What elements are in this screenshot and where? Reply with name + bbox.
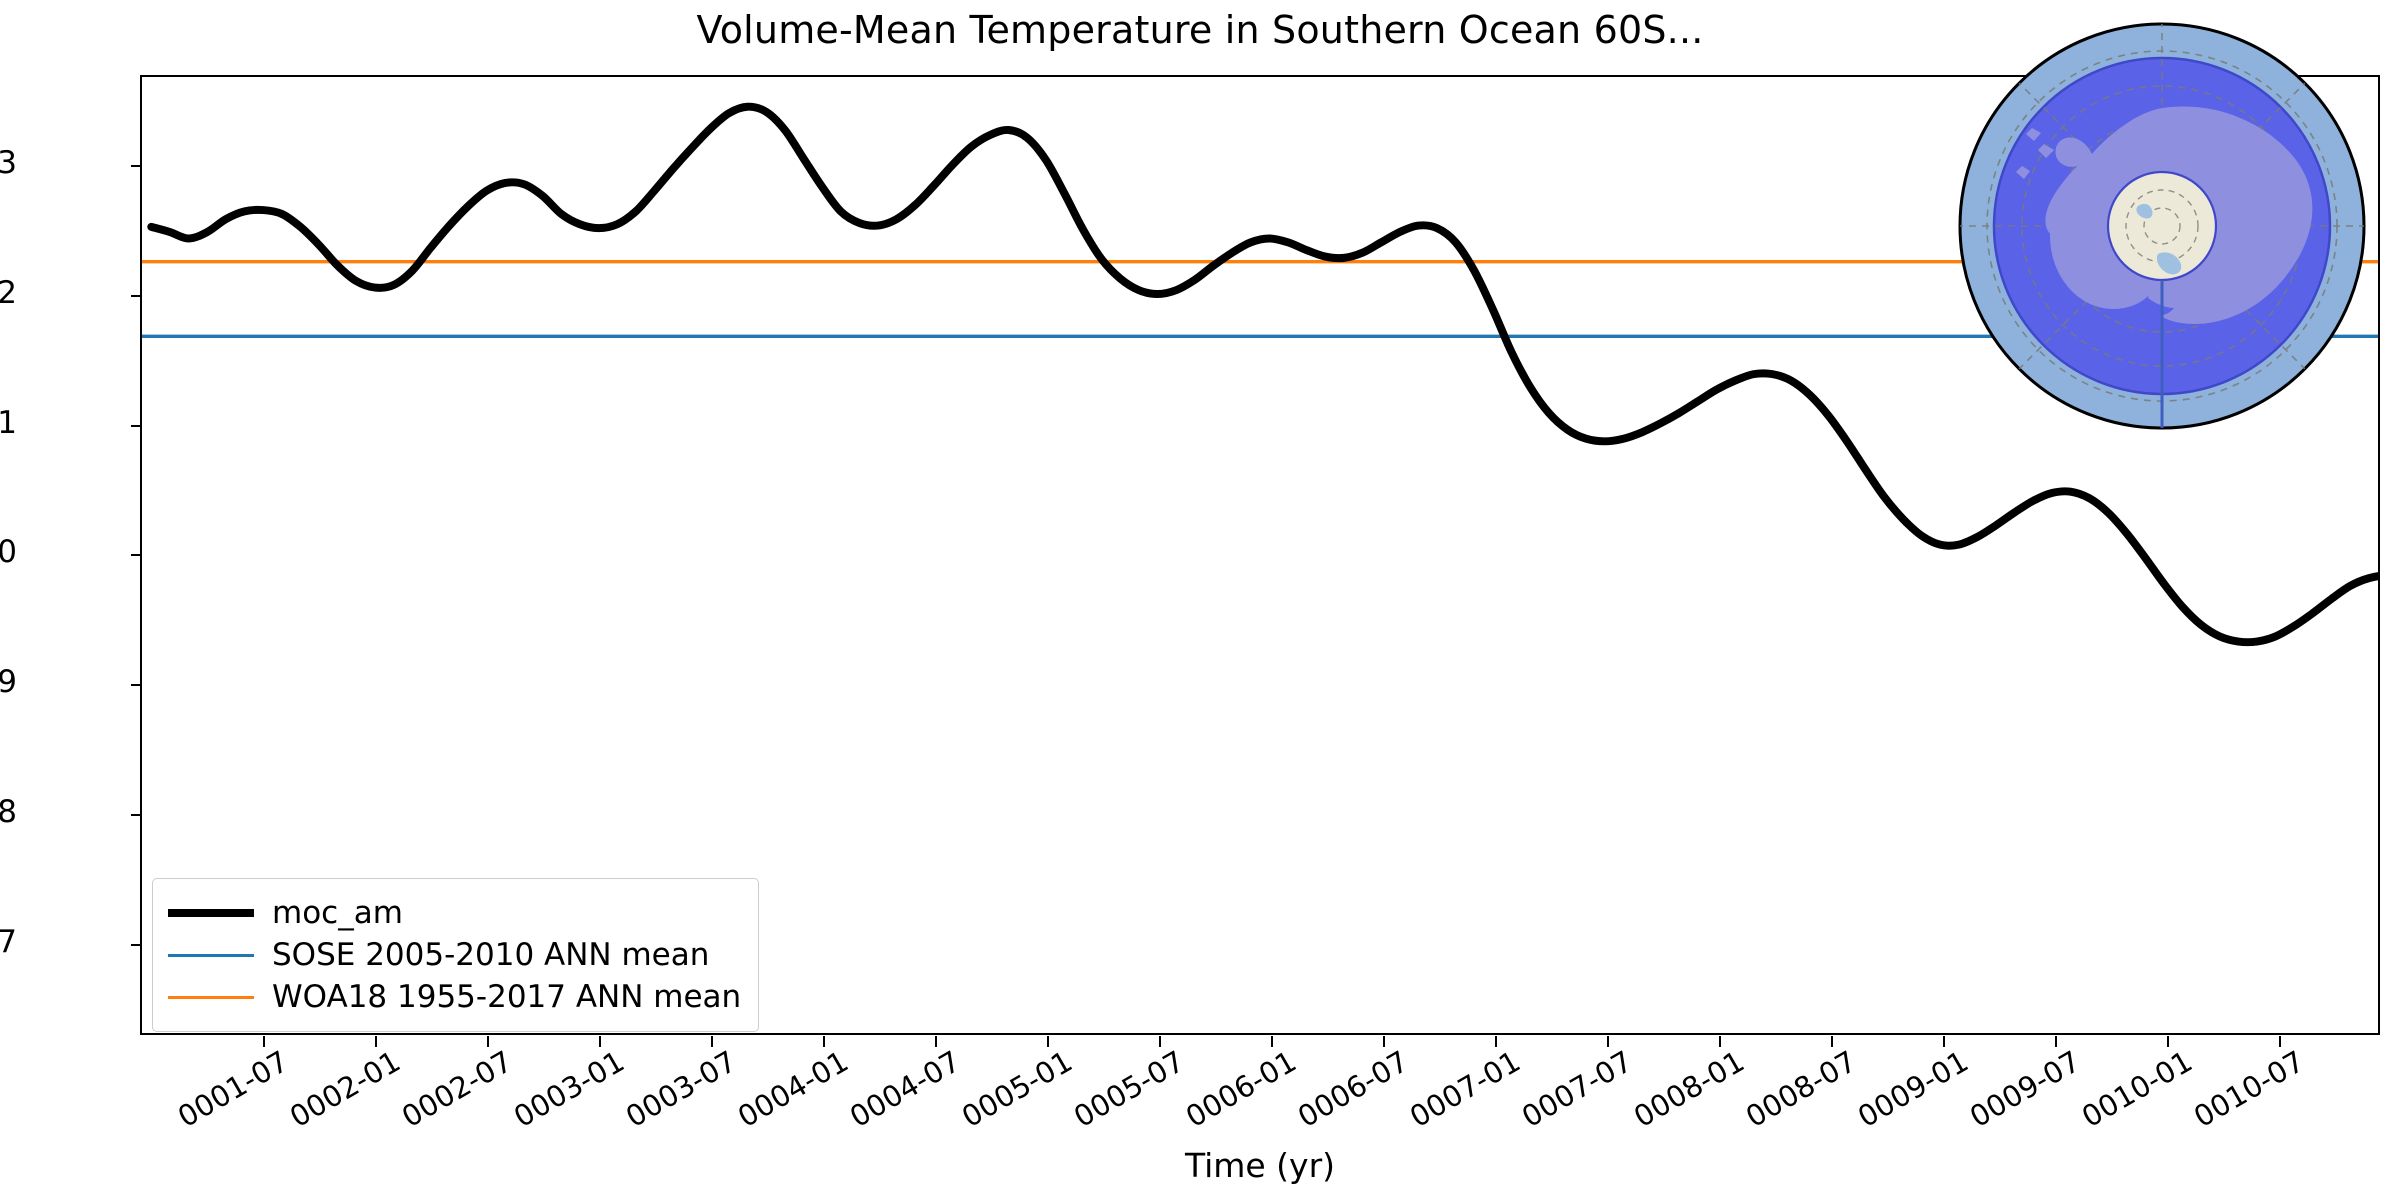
x-tick-label: 0004-01 [732,1044,854,1134]
y-tick-label: 1.1 [0,405,17,441]
y-tick-label: 0.9 [0,664,17,700]
x-tick-label: 0009-01 [1852,1044,1974,1134]
x-tick-label: 0010-07 [2188,1044,2310,1134]
x-tick-label: 0008-07 [1740,1044,1862,1134]
x-tick-mark [1271,1036,1273,1047]
x-tick-mark [2279,1036,2281,1047]
legend-item-woa18[interactable]: WOA18 1955-2017 ANN mean [168,976,741,1018]
antarctica-inset-map [1952,16,2372,436]
legend-swatch-moc-am [168,909,254,917]
y-tick-mark [131,295,142,297]
y-tick-mark [131,814,142,816]
x-tick-label: 0002-07 [396,1044,518,1134]
x-tick-mark [1047,1036,1049,1047]
x-tick-label: 0003-07 [620,1044,742,1134]
y-tick-label: 0.8 [0,794,17,830]
x-tick-label: 0009-07 [1964,1044,2086,1134]
x-tick-mark [823,1036,825,1047]
chart-legend[interactable]: moc_am SOSE 2005-2010 ANN mean WOA18 195… [152,878,759,1032]
legend-swatch-woa18 [168,996,254,999]
x-tick-mark [1159,1036,1161,1047]
x-tick-mark [935,1036,937,1047]
x-tick-mark [1495,1036,1497,1047]
x-tick-label: 0002-01 [284,1044,406,1134]
legend-swatch-sose [168,954,254,957]
x-tick-mark [375,1036,377,1047]
x-tick-mark [487,1036,489,1047]
y-tick-label: 1.3 [0,145,17,181]
x-tick-mark [263,1036,265,1047]
x-tick-mark [2055,1036,2057,1047]
inset-map-svg [1952,16,2372,436]
x-tick-mark [1719,1036,1721,1047]
x-tick-mark [1943,1036,1945,1047]
legend-item-sose[interactable]: SOSE 2005-2010 ANN mean [168,934,741,976]
x-tick-label: 0005-07 [1068,1044,1190,1134]
y-tick-mark [131,944,142,946]
y-tick-mark [131,165,142,167]
x-tick-label: 0006-01 [1180,1044,1302,1134]
y-tick-label: 1.2 [0,275,17,311]
figure-canvas: Volume-Mean Temperature in Southern Ocea… [0,0,2400,1200]
x-tick-label: 0007-07 [1516,1044,1638,1134]
x-tick-label: 0005-01 [956,1044,1078,1134]
y-tick-mark [131,425,142,427]
x-tick-label: 0006-07 [1292,1044,1414,1134]
x-tick-label: 0008-01 [1628,1044,1750,1134]
x-tick-mark [2167,1036,2169,1047]
x-tick-mark [1831,1036,1833,1047]
x-tick-label: 0004-07 [844,1044,966,1134]
x-tick-mark [599,1036,601,1047]
y-tick-mark [131,554,142,556]
x-tick-label: 0003-01 [508,1044,630,1134]
legend-label-moc-am: moc_am [272,898,403,929]
y-tick-mark [131,684,142,686]
y-tick-label: 0.7 [0,924,17,960]
x-tick-label: 0007-01 [1404,1044,1526,1134]
legend-item-moc-am[interactable]: moc_am [168,892,741,934]
x-tick-label: 0010-01 [2076,1044,2198,1134]
x-axis-label: Time (yr) [140,1146,2380,1185]
legend-label-sose: SOSE 2005-2010 ANN mean [272,940,709,971]
x-tick-mark [1383,1036,1385,1047]
legend-label-woa18: WOA18 1955-2017 ANN mean [272,982,741,1013]
y-tick-label: 1.0 [0,534,17,570]
x-tick-mark [1607,1036,1609,1047]
x-tick-mark [711,1036,713,1047]
x-tick-label: 0001-07 [172,1044,294,1134]
